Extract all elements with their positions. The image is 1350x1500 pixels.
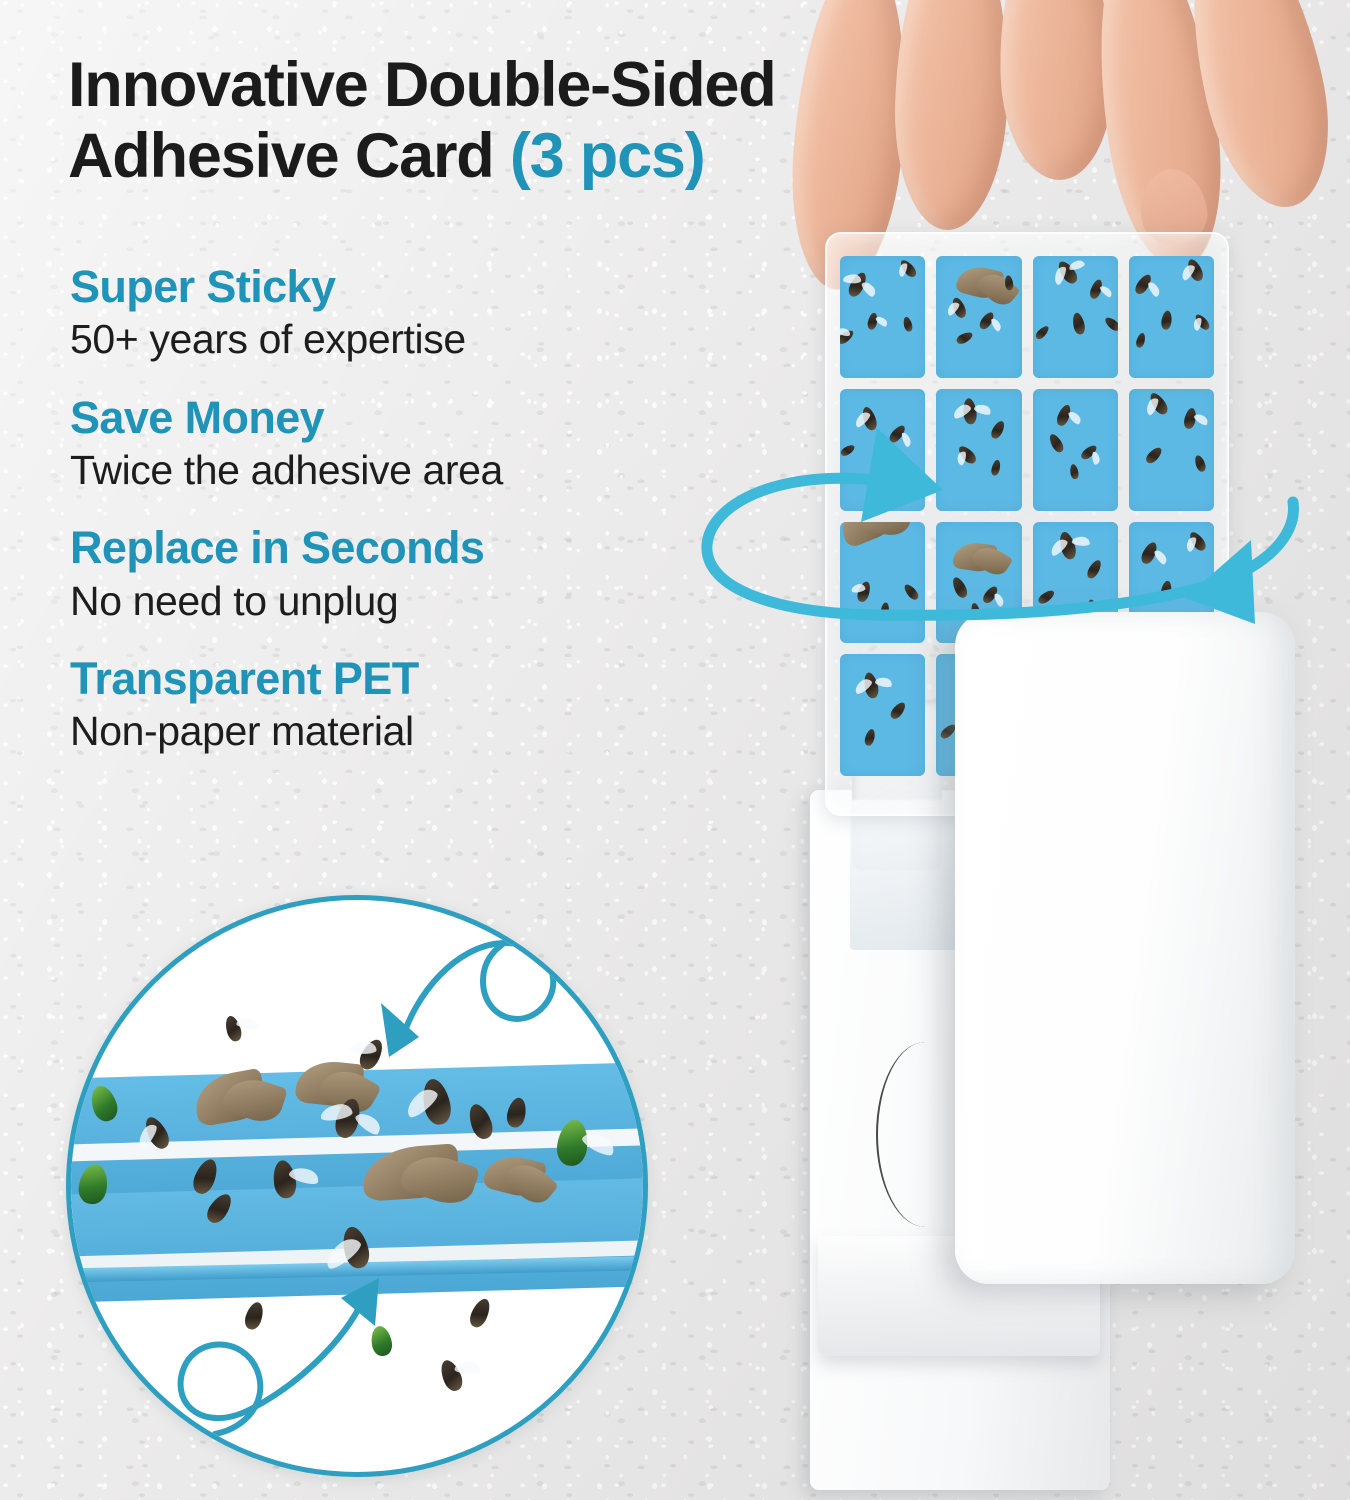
feature-item-super-sticky: Super Sticky 50+ years of expertise <box>70 262 710 365</box>
headline-quantity-badge: (3 pcs) <box>510 121 705 191</box>
feature-title: Replace in Seconds <box>70 523 710 573</box>
rotation-arrowhead-left <box>861 428 943 522</box>
feature-title: Transparent PET <box>70 654 710 704</box>
feature-title: Super Sticky <box>70 262 710 312</box>
feature-list: Super Sticky 50+ years of expertise Save… <box>70 262 710 784</box>
adhesive-cell <box>936 256 1021 378</box>
feature-subtitle: No need to unplug <box>70 577 710 626</box>
insect-landing-back-arrow <box>161 1260 391 1455</box>
product-photo-scene <box>700 0 1350 1500</box>
adhesive-cell <box>1129 256 1214 378</box>
feature-subtitle: 50+ years of expertise <box>70 315 710 364</box>
device-edge-highlight <box>968 624 1028 1270</box>
finger-middle <box>891 0 1013 232</box>
rotation-arrowhead-right <box>1185 540 1255 624</box>
arrowhead <box>341 1278 379 1326</box>
flip-card-rotation-arrow <box>625 410 1325 650</box>
magnified-cross-section-circle <box>66 895 648 1477</box>
feature-item-replace-in-seconds: Replace in Seconds No need to unplug <box>70 523 710 626</box>
adhesive-cell <box>840 256 925 378</box>
insect-landing-front-arrow <box>371 925 591 1125</box>
feature-item-transparent-pet: Transparent PET Non-paper material <box>70 654 710 757</box>
adhesive-cell <box>840 654 925 776</box>
feature-subtitle: Twice the adhesive area <box>70 446 710 495</box>
headline-line-2-main: Adhesive Card <box>68 121 510 191</box>
card-transparent-tail <box>850 800 962 950</box>
feature-subtitle: Non-paper material <box>70 707 710 756</box>
finger-ring <box>996 0 1117 182</box>
feature-item-save-money: Save Money Twice the adhesive area <box>70 393 710 496</box>
feature-title: Save Money <box>70 393 710 443</box>
adhesive-cell <box>1033 256 1118 378</box>
